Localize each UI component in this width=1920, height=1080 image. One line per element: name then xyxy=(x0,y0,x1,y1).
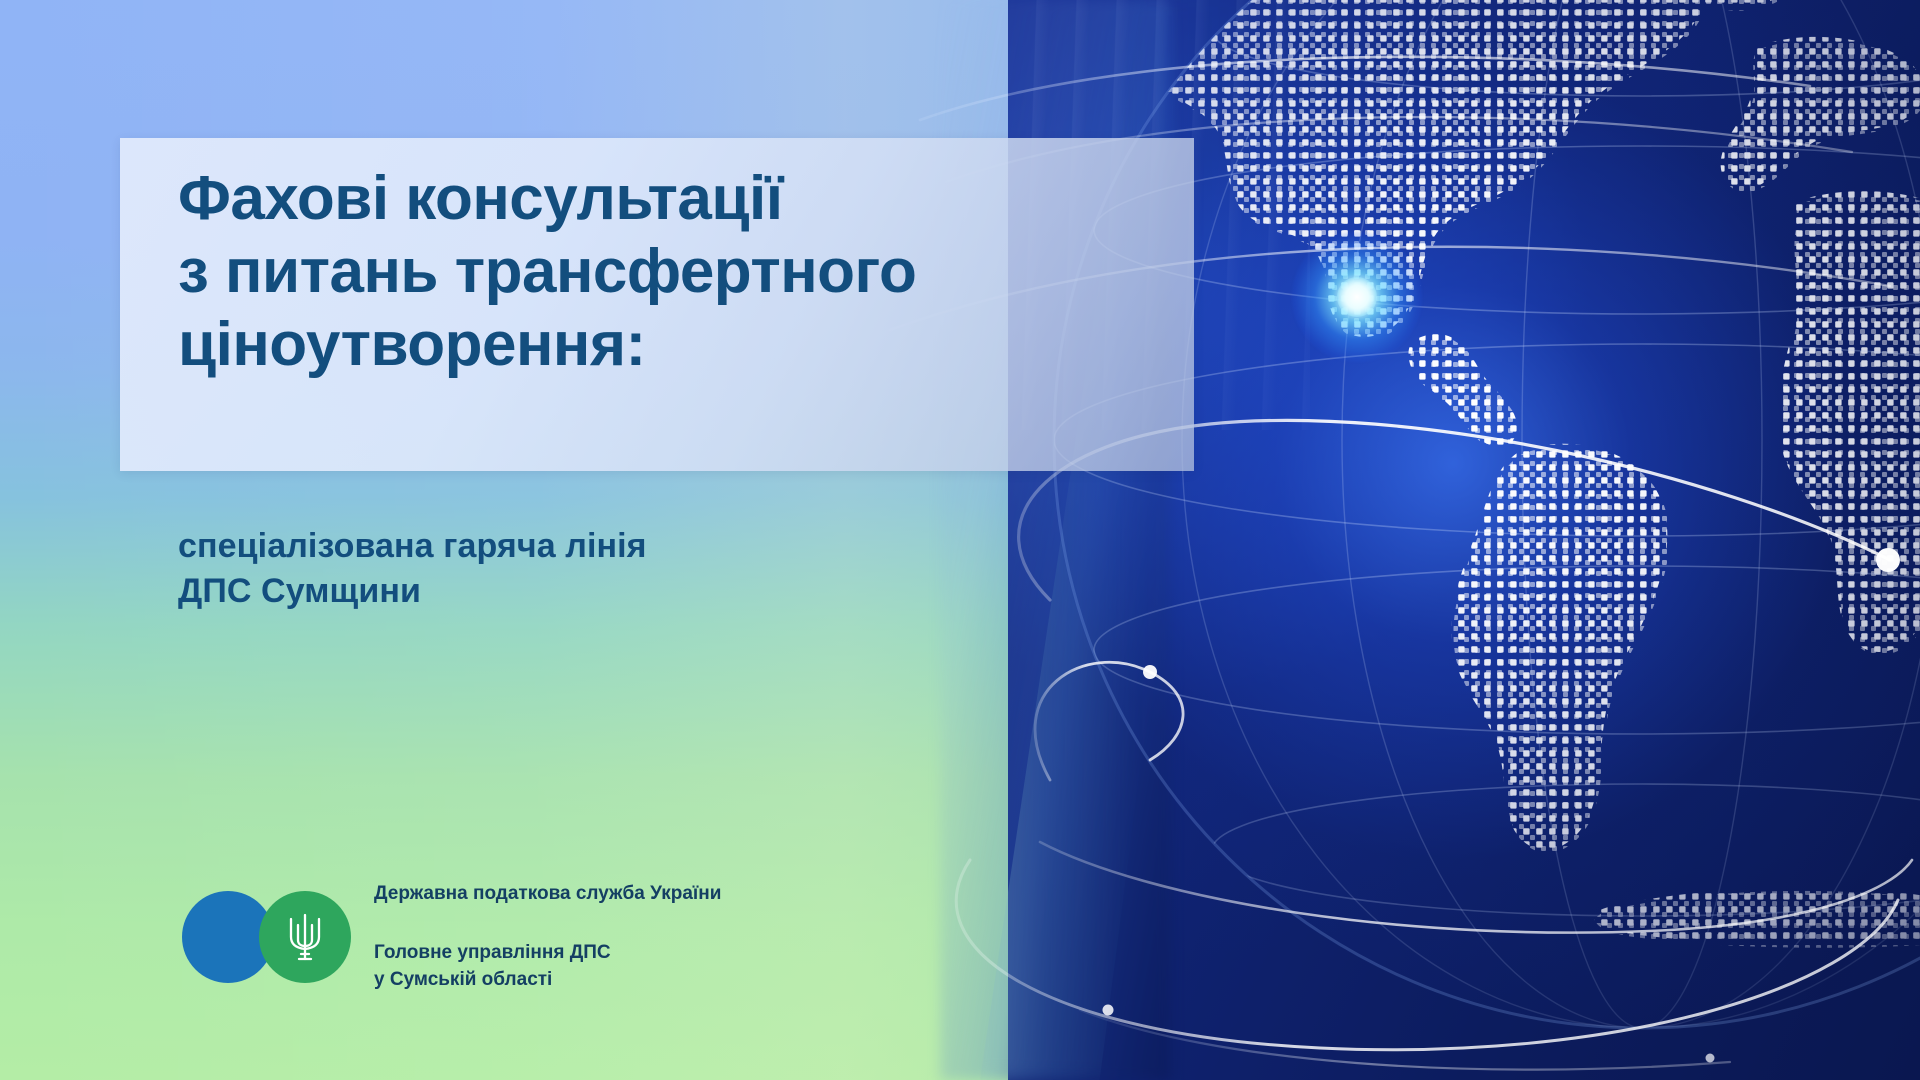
light-flare-core xyxy=(1337,277,1377,317)
page-subtitle: спеціалізована гаряча лінія ДПС Сумщини xyxy=(178,524,647,614)
logo-line-department: Головне управління ДПС у Сумській област… xyxy=(374,939,721,994)
green-circle-trident-mark xyxy=(259,891,351,983)
logo-marks xyxy=(182,891,334,983)
logo-text-block: Державна податкова служба України Головн… xyxy=(374,852,721,1021)
slide-canvas: Фахові консультації з питань трансфертно… xyxy=(0,0,1920,1080)
organization-logo: Державна податкова служба України Головн… xyxy=(182,852,721,1021)
ukraine-trident-icon xyxy=(285,909,325,965)
logo-line-agency: Державна податкова служба України xyxy=(374,880,721,908)
page-title: Фахові консультації з питань трансфертно… xyxy=(178,162,1188,381)
